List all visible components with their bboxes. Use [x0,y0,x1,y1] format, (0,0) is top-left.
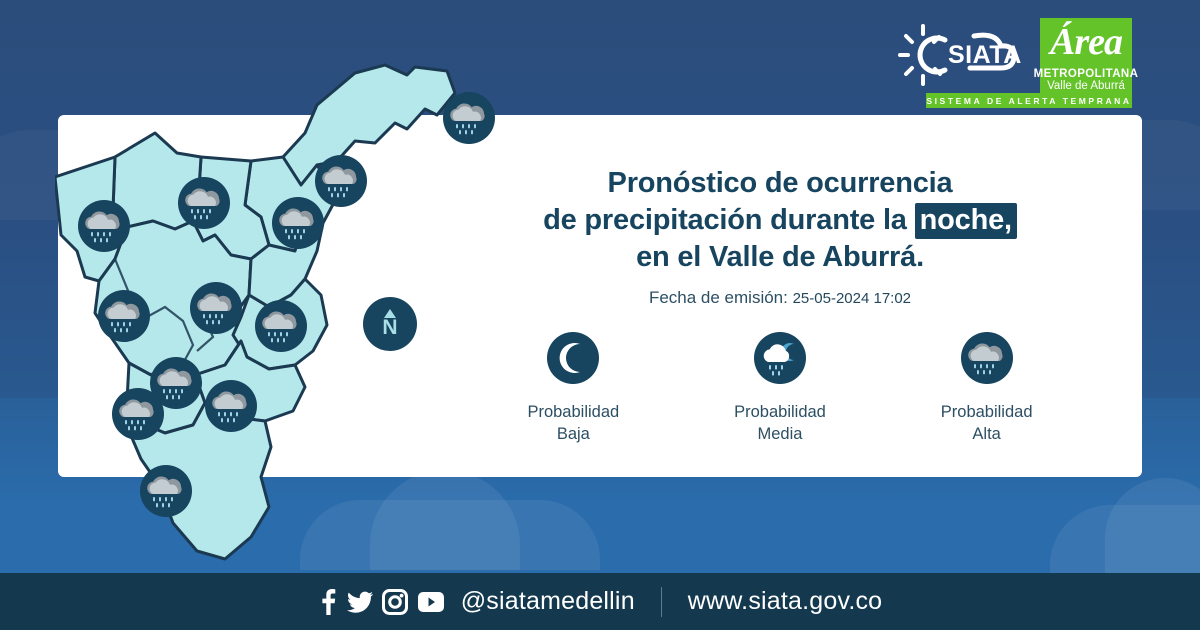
pin-itagui [255,300,307,352]
infographic-root: SIATA Área METROPOLITANA Valle de Aburrá… [0,0,1200,630]
cloud-heavy-rain-icon [961,332,1013,384]
emission-date-label: Fecha de emisión: [649,288,788,307]
svg-text:SIATA: SIATA [948,41,1022,69]
twitter-icon[interactable] [347,589,373,615]
alerta-temprana-text: SISTEMA DE ALERTA TEMPRANA [926,96,1131,106]
footer-divider [661,587,662,617]
pin-caldas [205,380,257,432]
legend-label-alta: Probabilidad Alta [902,401,1072,445]
moon-icon [547,332,599,384]
legend-label-line1: Probabilidad [902,401,1072,423]
sun-cloud-icon: SIATA [898,18,1030,92]
pin-san-pedro [178,177,230,229]
compass-label: N [382,317,397,339]
title-block: Pronóstico de ocurrencia de precipitació… [470,165,1090,308]
siata-logo: SIATA [898,18,1030,92]
title-line-3: en el Valle de Aburrá. [470,239,1090,276]
social-icon-group [318,589,445,615]
title-line-2: de precipitación durante la noche, [470,202,1090,239]
pin-copacabana [272,197,324,249]
legend-label-line1: Probabilidad [488,401,658,423]
legend-label-line2: Baja [488,423,658,445]
page-title: Pronóstico de ocurrencia de precipitació… [470,165,1090,276]
youtube-icon[interactable] [417,591,445,613]
pin-la-estrella [112,388,164,440]
pin-medellin [190,282,242,334]
title-line-1: Pronóstico de ocurrencia [470,165,1090,202]
cloud-moon-rain-icon [754,332,806,384]
legend-item-alta: Probabilidad Alta [902,332,1072,445]
area-metropolitana-logo: Área METROPOLITANA Valle de Aburrá [1040,18,1132,96]
municipality-barbosa [283,65,455,185]
pin-sur [140,465,192,517]
title-highlight-noche: noche, [915,203,1017,239]
area-line1: METROPOLITANA [1034,68,1139,80]
valle-de-aburra-map: N [55,45,475,570]
website-url[interactable]: www.siata.gov.co [688,587,882,616]
legend-item-media: Probabilidad Media [695,332,865,445]
instagram-icon[interactable] [382,589,408,615]
emission-date-value: 25-05-2024 17:02 [793,290,911,307]
legend: Probabilidad Baja Probabilidad Media [470,332,1090,445]
pin-barbosa [443,92,495,144]
pin-envigado [98,290,150,342]
footer-bar: @siatamedellin www.siata.gov.co [0,573,1200,630]
area-script-text: Área [1040,20,1132,64]
alerta-temprana-bar: SISTEMA DE ALERTA TEMPRANA [926,93,1132,108]
pin-bello [78,200,130,252]
social-handle[interactable]: @siatamedellin [461,587,635,616]
compass-rose: N [363,297,417,351]
facebook-icon[interactable] [318,589,338,615]
legend-item-baja: Probabilidad Baja [488,332,658,445]
legend-label-line1: Probabilidad [695,401,865,423]
legend-label-line2: Media [695,423,865,445]
legend-label-media: Probabilidad Media [695,401,865,445]
title-line-2-text: de precipitación durante la [543,204,907,236]
area-line2: Valle de Aburrá [1047,80,1125,93]
emission-date: Fecha de emisión: 25-05-2024 17:02 [470,288,1090,308]
logo-group: SIATA Área METROPOLITANA Valle de Aburrá [898,18,1132,96]
legend-label-baja: Probabilidad Baja [488,401,658,445]
legend-label-line2: Alta [902,423,1072,445]
